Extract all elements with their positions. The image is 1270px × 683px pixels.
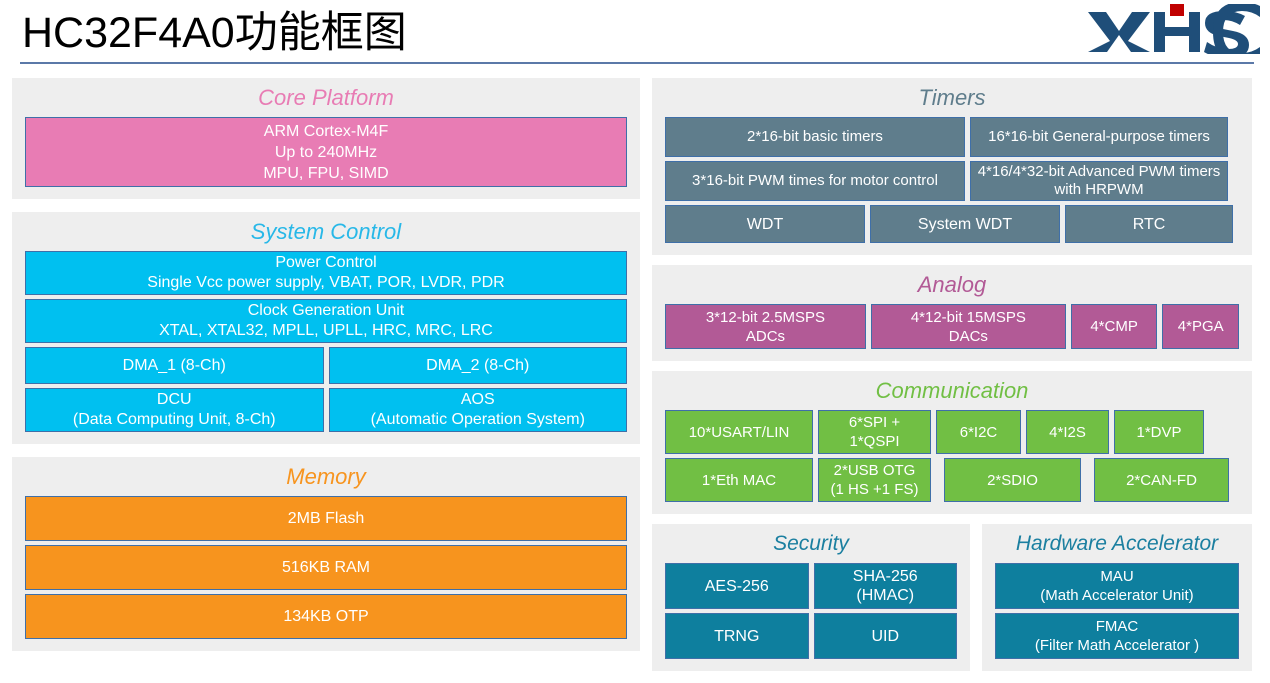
block-power-control[interactable]: Power Control Single Vcc power supply, V… [25,251,627,295]
block-flash[interactable]: 2MB Flash [25,496,627,541]
panel-memory: Memory 2MB Flash 516KB RAM 134KB OTP [12,457,640,651]
block-spi-qspi[interactable]: 6*SPI + 1*QSPI [818,410,931,454]
panel-title-system-control: System Control [25,218,627,246]
block-basic-timers[interactable]: 2*16-bit basic timers [665,117,965,157]
panel-title-core-platform: Core Platform [25,84,627,112]
block-adcs[interactable]: 3*12-bit 2.5MSPS ADCs [665,304,866,349]
block-uid[interactable]: UID [814,613,958,659]
analog-row-1: 3*12-bit 2.5MSPS ADCs 4*12-bit 15MSPS DA… [665,304,1239,349]
panel-system-control: System Control Power Control Single Vcc … [12,212,640,444]
panel-title-memory: Memory [25,463,627,491]
block-pwm-motor-control[interactable]: 3*16-bit PWM times for motor control [665,161,965,201]
block-usb-otg[interactable]: 2*USB OTG (1 HS +1 FS) [818,458,931,502]
block-system-wdt[interactable]: System WDT [870,205,1060,243]
block-usart-lin[interactable]: 10*USART/LIN [665,410,813,454]
logo-accent-square [1170,4,1184,16]
block-pga[interactable]: 4*PGA [1162,304,1239,349]
core-platform-row: ARM Cortex-M4F Up to 240MHz MPU, FPU, SI… [25,117,627,187]
logo-icon [1086,4,1264,54]
page-header: HC32F4A0功能框图 [0,0,1270,70]
block-dcu[interactable]: DCU (Data Computing Unit, 8-Ch) [25,388,324,432]
xhsc-logo [1086,4,1264,52]
hardware-accelerator-rows: MAU (Math Accelerator Unit) FMAC (Filter… [995,563,1239,659]
block-fmac[interactable]: FMAC (Filter Math Accelerator ) [995,613,1239,659]
block-diagram: Core Platform ARM Cortex-M4F Up to 240MH… [0,70,1270,683]
memory-rows: 2MB Flash 516KB RAM 134KB OTP [25,496,627,639]
block-i2c[interactable]: 6*I2C [936,410,1021,454]
block-general-purpose-timers[interactable]: 16*16-bit General-purpose timers [970,117,1228,157]
timers-row-3: WDT System WDT RTC [665,205,1239,243]
block-advanced-pwm-hrpwm[interactable]: 4*16/4*32-bit Advanced PWM timers with H… [970,161,1228,201]
block-aes-256[interactable]: AES-256 [665,563,809,609]
hardware-accelerator-row-1: MAU (Math Accelerator Unit) [995,563,1239,609]
block-mau[interactable]: MAU (Math Accelerator Unit) [995,563,1239,609]
memory-row-1: 2MB Flash [25,496,627,541]
communication-rows: 10*USART/LIN 6*SPI + 1*QSPI 6*I2C 4*I2S … [665,410,1239,502]
panel-communication: Communication 10*USART/LIN 6*SPI + 1*QSP… [652,371,1252,514]
panel-hardware-accelerator: Hardware Accelerator MAU (Math Accelerat… [982,524,1252,671]
timers-rows: 2*16-bit basic timers 16*16-bit General-… [665,117,1239,243]
communication-row-2: 1*Eth MAC 2*USB OTG (1 HS +1 FS) 2*SDIO … [665,458,1239,502]
panel-title-communication: Communication [665,377,1239,405]
block-clock-generation-unit[interactable]: Clock Generation Unit XTAL, XTAL32, MPLL… [25,299,627,343]
core-platform-rows: ARM Cortex-M4F Up to 240MHz MPU, FPU, SI… [25,117,627,187]
timers-row-1: 2*16-bit basic timers 16*16-bit General-… [665,117,1239,157]
block-sha-256-hmac[interactable]: SHA-256 (HMAC) [814,563,958,609]
block-ram[interactable]: 516KB RAM [25,545,627,590]
block-dma-1[interactable]: DMA_1 (8-Ch) [25,347,324,384]
block-arm-cortex-m4f[interactable]: ARM Cortex-M4F Up to 240MHz MPU, FPU, SI… [25,117,627,187]
block-can-fd[interactable]: 2*CAN-FD [1094,458,1229,502]
block-cmp[interactable]: 4*CMP [1071,304,1158,349]
system-control-row-1: Power Control Single Vcc power supply, V… [25,251,627,295]
left-column: Core Platform ARM Cortex-M4F Up to 240MH… [12,78,640,675]
title-divider [20,62,1254,64]
memory-row-2: 516KB RAM [25,545,627,590]
panel-timers: Timers 2*16-bit basic timers 16*16-bit G… [652,78,1252,255]
block-dacs[interactable]: 4*12-bit 15MSPS DACs [871,304,1066,349]
panel-title-hardware-accelerator: Hardware Accelerator [995,530,1239,558]
panel-title-security: Security [665,530,957,558]
panel-core-platform: Core Platform ARM Cortex-M4F Up to 240MH… [12,78,640,199]
block-wdt[interactable]: WDT [665,205,865,243]
communication-row-1: 10*USART/LIN 6*SPI + 1*QSPI 6*I2C 4*I2S … [665,410,1239,454]
hardware-accelerator-row-2: FMAC (Filter Math Accelerator ) [995,613,1239,659]
panel-title-timers: Timers [665,84,1239,112]
security-rows: AES-256 SHA-256 (HMAC) TRNG UID [665,563,957,659]
analog-rows: 3*12-bit 2.5MSPS ADCs 4*12-bit 15MSPS DA… [665,304,1239,349]
system-control-row-4: DCU (Data Computing Unit, 8-Ch) AOS (Aut… [25,388,627,432]
system-control-row-3: DMA_1 (8-Ch) DMA_2 (8-Ch) [25,347,627,384]
panel-title-analog: Analog [665,271,1239,299]
block-sdio[interactable]: 2*SDIO [944,458,1081,502]
block-i2s[interactable]: 4*I2S [1026,410,1109,454]
block-aos[interactable]: AOS (Automatic Operation System) [329,388,628,432]
system-control-row-2: Clock Generation Unit XTAL, XTAL32, MPLL… [25,299,627,343]
block-rtc[interactable]: RTC [1065,205,1233,243]
block-otp[interactable]: 134KB OTP [25,594,627,639]
security-row-2: TRNG UID [665,613,957,659]
bottom-panels: Security AES-256 SHA-256 (HMAC) TRNG UID… [652,524,1252,671]
timers-row-2: 3*16-bit PWM times for motor control 4*1… [665,161,1239,201]
block-trng[interactable]: TRNG [665,613,809,659]
block-dvp[interactable]: 1*DVP [1114,410,1204,454]
panel-analog: Analog 3*12-bit 2.5MSPS ADCs 4*12-bit 15… [652,265,1252,361]
block-eth-mac[interactable]: 1*Eth MAC [665,458,813,502]
security-row-1: AES-256 SHA-256 (HMAC) [665,563,957,609]
memory-row-3: 134KB OTP [25,594,627,639]
page-title: HC32F4A0功能框图 [22,0,407,60]
system-control-rows: Power Control Single Vcc power supply, V… [25,251,627,432]
block-dma-2[interactable]: DMA_2 (8-Ch) [329,347,628,384]
panel-security: Security AES-256 SHA-256 (HMAC) TRNG UID [652,524,970,671]
right-column: Timers 2*16-bit basic timers 16*16-bit G… [652,78,1252,675]
